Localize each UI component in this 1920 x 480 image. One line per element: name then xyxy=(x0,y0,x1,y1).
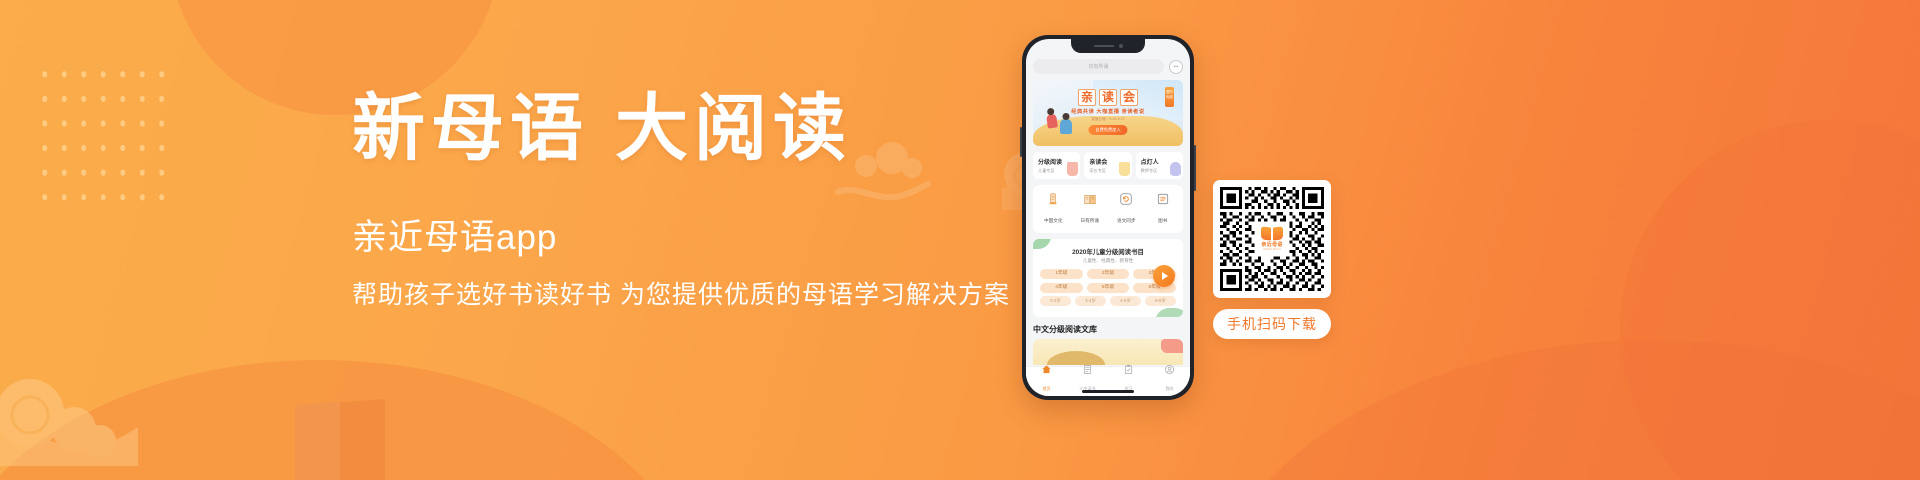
library-tag-decor xyxy=(1161,339,1183,353)
books-icon xyxy=(1156,192,1170,206)
quick-item-books[interactable]: 图书 xyxy=(1145,192,1182,227)
tagline: 帮助孩子选好书读好书 为您提供优质的母语学习解决方案 xyxy=(352,279,1012,312)
user-icon xyxy=(1164,364,1175,375)
qr-block: 亲近母语 QINJIN MUYU 手机扫码下载 xyxy=(1213,180,1331,339)
age-pill[interactable]: 4-5岁 xyxy=(1110,296,1141,306)
scroll-icon xyxy=(1046,192,1060,206)
page-title: 新母语大阅读 xyxy=(352,92,1012,165)
category-card-graded-reading[interactable]: 分级阅读 儿童专区 xyxy=(1033,152,1080,179)
grades-title: 2020年儿童分级阅读书目 xyxy=(1040,247,1176,256)
search-input[interactable]: 日有所诵 xyxy=(1033,59,1164,74)
qr-center-logo: 亲近母语 QINJIN MUYU xyxy=(1256,223,1288,255)
quick-label: 语文同步 xyxy=(1117,218,1135,223)
phone-mockup: 日有所诵 ••• 亲 读 会 限时免费 经典共读 大咖直 xyxy=(1022,35,1194,400)
play-video-icon[interactable] xyxy=(1153,265,1175,287)
hero-char-1: 亲 xyxy=(1078,89,1096,106)
hero-date: 直播日程：9.16-9.27 xyxy=(1033,117,1183,122)
logo-name: 亲近母语 xyxy=(1261,241,1282,248)
grades-section: 2020年儿童分级阅读书目 儿童性、经典性、教育性 1年级 2年级 3年级 4年… xyxy=(1033,239,1183,317)
bookmark-icon xyxy=(1119,162,1130,176)
home-icon xyxy=(1041,364,1052,375)
copy-block: 新母语大阅读 亲近母语app 帮助孩子选好书读好书 为您提供优质的母语学习解决方… xyxy=(352,92,1012,312)
quick-item-daily-recitation[interactable]: 日有所诵 xyxy=(1072,192,1109,227)
search-placeholder: 日有所诵 xyxy=(1088,63,1108,70)
decor-cube xyxy=(295,399,385,480)
person-icon xyxy=(1170,162,1181,176)
grade-pill[interactable]: 1年级 xyxy=(1040,269,1083,279)
study-icon xyxy=(1123,364,1134,375)
bookmark-icon xyxy=(1067,162,1078,176)
phone-notch xyxy=(1071,39,1145,53)
tab-label: 首页 xyxy=(1043,386,1051,391)
decor-hill-right xyxy=(1200,340,1920,480)
category-card-teacher[interactable]: 点灯人 教师专区 xyxy=(1136,152,1183,179)
title-part-2: 大阅读 xyxy=(615,85,852,171)
hero-char-2: 读 xyxy=(1099,89,1117,106)
camera-icon xyxy=(1119,44,1123,48)
category-cards: 分级阅读 儿童专区 亲读会 家长专区 点灯人 教师专区 xyxy=(1033,152,1183,179)
quick-label: 图书 xyxy=(1158,218,1167,223)
phone-screen: 日有所诵 ••• 亲 读 会 限时免费 经典共读 大咖直 xyxy=(1026,39,1190,396)
speaker-icon xyxy=(1094,45,1114,48)
promo-banner: 新母语大阅读 亲近母语app 帮助孩子选好书读好书 为您提供优质的母语学习解决方… xyxy=(0,0,1920,480)
message-icon[interactable]: ••• xyxy=(1169,60,1183,74)
leaf-decor-icon xyxy=(1155,308,1183,317)
decor-dot-grid xyxy=(35,62,175,212)
grade-pill[interactable]: 4年级 xyxy=(1040,283,1083,293)
grades-row-3: 0-3岁 3-4岁 4-5岁 5-6岁 xyxy=(1040,296,1176,306)
cloud-icon xyxy=(0,371,142,466)
hero-subtitle: 经典共读 大咖直播 亲读者说 xyxy=(1033,108,1183,115)
search-row: 日有所诵 ••• xyxy=(1033,59,1183,74)
tab-profile[interactable]: 我的 xyxy=(1149,364,1190,395)
hero-join-button[interactable]: 自费免费加入 xyxy=(1088,125,1127,135)
quick-item-chinese-culture[interactable]: 中国文化 xyxy=(1035,192,1072,227)
age-pill[interactable]: 0-3岁 xyxy=(1040,296,1071,306)
grade-pill[interactable]: 2年级 xyxy=(1087,269,1130,279)
reading-icon xyxy=(1082,364,1093,375)
title-part-1: 新母语 xyxy=(352,85,589,171)
hero-badge: 限时免费 xyxy=(1165,87,1174,107)
tab-label: 我的 xyxy=(1166,386,1174,391)
grades-subtitle: 儿童性、经典性、教育性 xyxy=(1040,258,1176,264)
app-name: 亲近母语app xyxy=(352,217,1012,259)
app-hero-banner[interactable]: 亲 读 会 限时免费 经典共读 大咖直播 亲读者说 直播日程：9.16-9.27… xyxy=(1033,80,1183,146)
hero-title: 亲 读 会 xyxy=(1078,89,1138,106)
home-indicator xyxy=(1082,390,1134,393)
hero-char-3: 会 xyxy=(1120,89,1138,106)
age-pill[interactable]: 3-4岁 xyxy=(1075,296,1106,306)
grade-pill[interactable]: 5年级 xyxy=(1087,283,1130,293)
sync-icon xyxy=(1119,192,1133,206)
qr-code: 亲近母语 QINJIN MUYU xyxy=(1213,180,1331,298)
book-open-icon xyxy=(1083,192,1097,206)
library-arc-decor xyxy=(1047,351,1105,365)
quick-nav: 中国文化 日有所诵 xyxy=(1033,185,1183,233)
download-button[interactable]: 手机扫码下载 xyxy=(1213,309,1331,339)
quick-label: 日有所诵 xyxy=(1081,218,1099,223)
category-card-parent-club[interactable]: 亲读会 家长专区 xyxy=(1084,152,1131,179)
book-logo-icon xyxy=(1261,227,1283,240)
library-card[interactable] xyxy=(1033,339,1183,365)
age-pill[interactable]: 5-6岁 xyxy=(1145,296,1176,306)
library-title: 中文分级阅读文库 xyxy=(1033,323,1183,339)
quick-item-textbook-sync[interactable]: 语文同步 xyxy=(1108,192,1145,227)
logo-subtitle: QINJIN MUYU xyxy=(1263,248,1281,251)
tab-home[interactable]: 首页 xyxy=(1026,364,1067,395)
quick-label: 中国文化 xyxy=(1044,218,1062,223)
